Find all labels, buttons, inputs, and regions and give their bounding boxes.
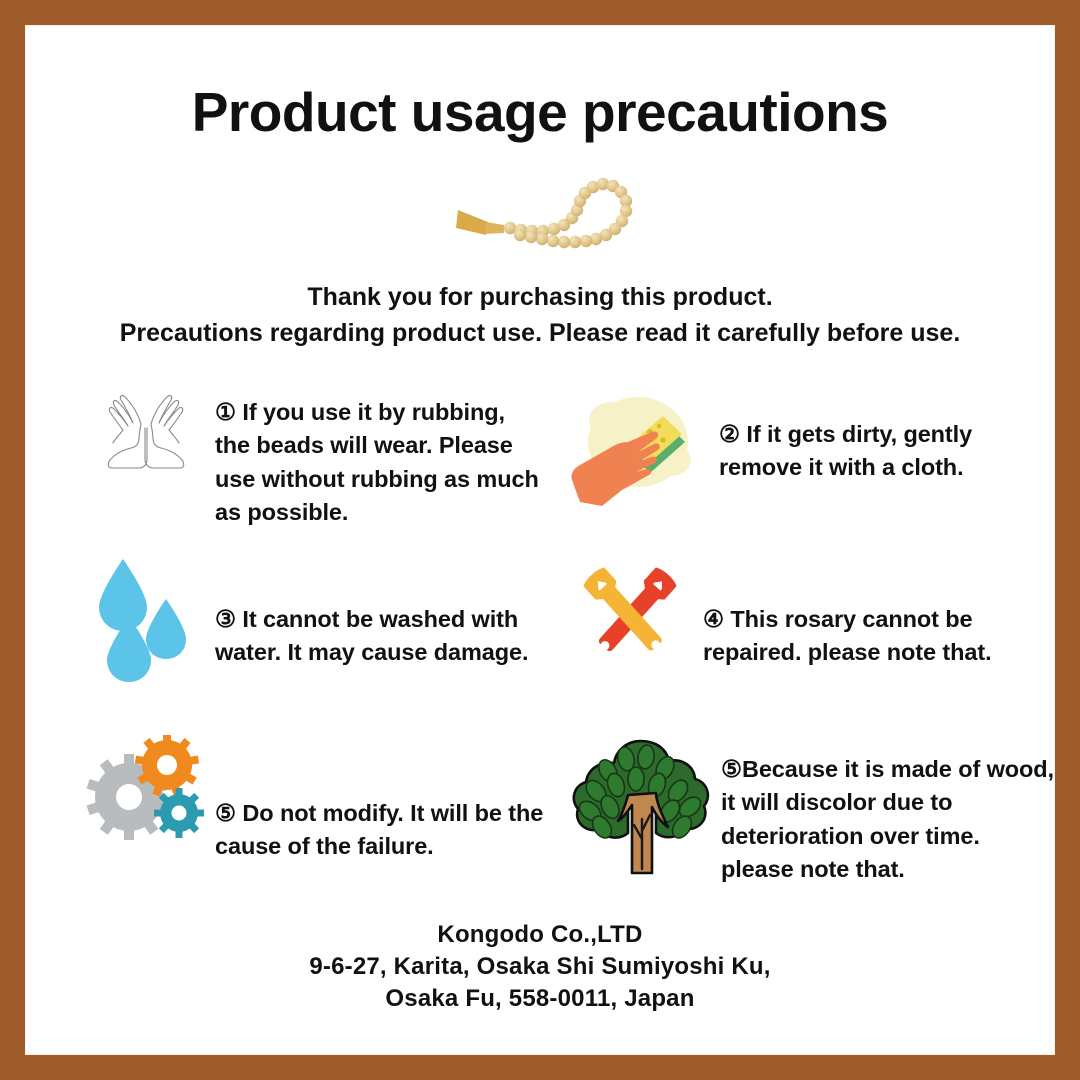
precaution-row: ① If you use it by rubbing, the beads wi…	[55, 380, 1055, 555]
gears-icon	[77, 735, 215, 920]
tree-icon	[561, 735, 721, 920]
precaution-item-6: ⑤Because it is made of wood, it will dis…	[555, 735, 1055, 920]
crossed-wrenches-icon	[561, 555, 699, 735]
precaution-row: ⑤ Do not modify. It will be the cause of…	[55, 735, 1055, 920]
precaution-item-3: ③ It cannot be washed with water. It may…	[55, 555, 555, 735]
precaution-item-2: ② If it gets dirty, gently remove it wit…	[555, 380, 1055, 555]
precaution-item-4: ④ This rosary cannot be repaired. please…	[555, 555, 1055, 735]
intro-line-1: Thank you for purchasing this product.	[25, 280, 1055, 316]
address-line-2: Osaka Fu, 558-0011, Japan	[25, 983, 1055, 1015]
hand-with-sponge-icon	[561, 380, 711, 555]
precaution-item-5: ⑤ Do not modify. It will be the cause of…	[55, 735, 555, 920]
poster-border: Product usage precautions	[0, 0, 1080, 1080]
intro-line-2: Precautions regarding product use. Pleas…	[25, 316, 1055, 352]
company-name: Kongodo Co.,LTD	[25, 919, 1055, 951]
praying-hands-icon	[77, 380, 215, 555]
precaution-text-3: ③ It cannot be washed with water. It may…	[215, 555, 555, 735]
address-line-1: 9-6-27, Karita, Osaka Shi Sumiyoshi Ku,	[25, 951, 1055, 983]
rosary-beads-illustration	[430, 165, 650, 270]
precaution-text-4: ④ This rosary cannot be repaired. please…	[699, 555, 1023, 735]
poster-sheet: Product usage precautions	[25, 25, 1055, 1055]
precaution-item-1: ① If you use it by rubbing, the beads wi…	[55, 380, 555, 555]
precaution-text-2: ② If it gets dirty, gently remove it wit…	[711, 380, 1019, 555]
precaution-row: ③ It cannot be washed with water. It may…	[55, 555, 1055, 735]
footer-address-block: Kongodo Co.,LTD 9-6-27, Karita, Osaka Sh…	[25, 919, 1055, 1015]
water-drops-icon	[77, 555, 215, 735]
precautions-grid: ① If you use it by rubbing, the beads wi…	[55, 380, 1055, 920]
precaution-text-6: ⑤Because it is made of wood, it will dis…	[721, 735, 1055, 920]
intro-text: Thank you for purchasing this product. P…	[25, 280, 1055, 351]
page-title: Product usage precautions	[25, 80, 1055, 144]
precaution-text-5: ⑤ Do not modify. It will be the cause of…	[215, 735, 545, 920]
precaution-text-1: ① If you use it by rubbing, the beads wi…	[215, 380, 545, 555]
